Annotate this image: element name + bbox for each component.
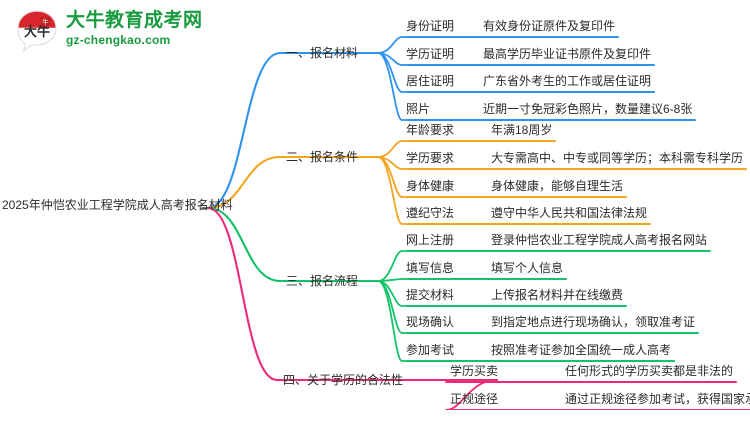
row-underline [450, 381, 737, 383]
row-description: 上传报名材料并在线缴费 [491, 285, 623, 305]
row-description: 按照准考证参加全国统一成人高考 [491, 340, 671, 360]
row-sub-label: 年龄要求 [406, 120, 454, 140]
row-description: 有效身份证原件及复印件 [483, 16, 615, 36]
svg-text:大牛: 大牛 [24, 24, 50, 39]
row-sub-label: 身体健康 [406, 176, 454, 196]
logo-title: 大牛教育成考网 [66, 10, 196, 32]
row-underline [406, 332, 699, 334]
row-sub-label: 学历证明 [406, 44, 454, 64]
row-description: 年满18周岁 [491, 120, 552, 140]
logo-subtitle: gz-chengkao.com [66, 32, 196, 48]
row-underline [406, 196, 627, 198]
row-underline [406, 36, 619, 38]
root-node-label: 2025年仲恺农业工程学院成人高考报名材料 [2, 197, 206, 213]
branch-label-3[interactable]: 三、报名流程 [286, 273, 358, 289]
row-description: 身体健康，能够自理生活 [491, 176, 623, 196]
row-description: 遵守中华人民共和国法律法规 [491, 203, 647, 223]
row-description: 任何形式的学历买卖都是非法的 [565, 361, 733, 381]
daniu-logo-icon: 大牛 牛 [14, 8, 60, 54]
row-underline [406, 278, 567, 280]
row-underline [406, 223, 651, 225]
row-sub-label: 遵纪守法 [406, 203, 454, 223]
row-description: 通过正规途径参加考试，获得国家承认的学历 [565, 389, 750, 409]
row-sub-label: 身份证明 [406, 16, 454, 36]
branch-label-1[interactable]: 一、报名材料 [286, 45, 358, 61]
mindmap-canvas: 大牛 牛 大牛教育成考网 gz-chengkao.com 2025年仲恺农业工程… [0, 0, 750, 410]
branch-label-4[interactable]: 四、关于学历的合法性 [283, 372, 403, 388]
row-underline [406, 168, 747, 170]
row-description: 到指定地点进行现场确认，领取准考证 [491, 312, 695, 332]
logo-text-block: 大牛教育成考网 gz-chengkao.com [66, 10, 196, 48]
row-sub-label: 现场确认 [406, 312, 454, 332]
row-underline [406, 305, 627, 307]
row-description: 近期一寸免冠彩色照片，数量建议6-8张 [483, 99, 692, 119]
row-sub-label: 照片 [406, 99, 430, 119]
row-description: 填写个人信息 [491, 258, 563, 278]
row-sub-label: 提交材料 [406, 285, 454, 305]
row-underline [406, 91, 655, 93]
svg-text:牛: 牛 [42, 17, 49, 26]
row-description: 广东省外考生的工作或居住证明 [483, 71, 651, 91]
row-underline [406, 250, 711, 252]
row-sub-label: 网上注册 [406, 230, 454, 250]
site-logo: 大牛 牛 大牛教育成考网 gz-chengkao.com [8, 6, 198, 58]
row-description: 最高学历毕业证书原件及复印件 [483, 44, 651, 64]
row-sub-label: 学历要求 [406, 148, 454, 168]
row-description: 登录仲恺农业工程学院成人高考报名网站 [491, 230, 707, 250]
row-underline [406, 140, 556, 142]
row-sub-label: 学历买卖 [450, 361, 498, 381]
row-underline [406, 64, 655, 66]
row-sub-label: 参加考试 [406, 340, 454, 360]
row-description: 大专需高中、中专或同等学历；本科需专科学历 [491, 148, 743, 168]
row-sub-label: 正规途径 [450, 389, 498, 409]
row-sub-label: 填写信息 [406, 258, 454, 278]
row-sub-label: 居住证明 [406, 71, 454, 91]
branch-label-2[interactable]: 二、报名条件 [286, 149, 358, 165]
